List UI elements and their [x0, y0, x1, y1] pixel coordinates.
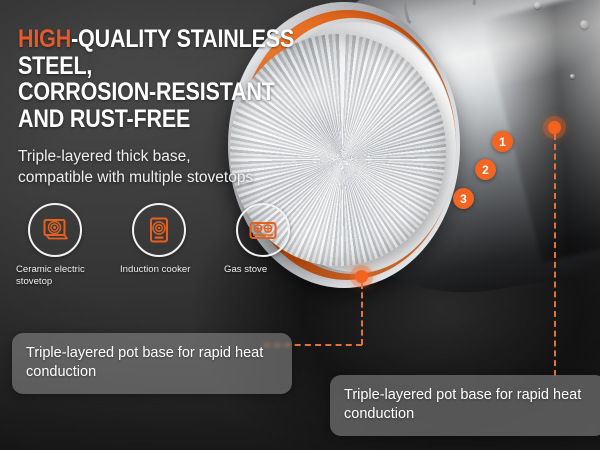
feature-caption: Gas stove: [224, 264, 302, 276]
subheading: Triple-layered thick base, compatible wi…: [18, 146, 328, 189]
feature-induction-cooker: Induction cooker: [120, 203, 198, 288]
callout-right: Triple-layered pot base for rapid heat c…: [330, 375, 600, 436]
subheading-line1: Triple-layered thick base,: [18, 148, 191, 165]
product-feature-banner: HIGH-QUALITY STAINLESS STEEL, CORROSION-…: [0, 0, 600, 450]
page-title: HIGH-QUALITY STAINLESS STEEL, CORROSION-…: [18, 26, 302, 132]
pointer-dot-base-center: [355, 270, 368, 283]
ceramic-electric-stovetop-icon: [28, 203, 82, 257]
callout-left: Triple-layered pot base for rapid heat c…: [12, 333, 292, 394]
feature-label-line2: stovetop: [16, 276, 52, 287]
layer-badge-3: 3: [453, 188, 474, 209]
feature-label-line1: Induction cooker: [120, 264, 190, 275]
headline-line2: CORROSION-RESISTANT: [18, 78, 275, 106]
subheading-line2: compatible with multiple stovetops: [18, 169, 253, 186]
feature-caption: Induction cooker: [120, 264, 198, 276]
feature-label-line1: Ceramic electric: [16, 264, 85, 275]
headline-line3: AND RUST-FREE: [18, 105, 190, 133]
induction-cooker-icon: [132, 203, 186, 257]
pointer-dot-pot-rim: [548, 121, 561, 134]
feature-caption: Ceramic electric stovetop: [16, 264, 94, 288]
layer-badge-1: 1: [492, 131, 513, 152]
feature-ceramic-electric-stovetop: Ceramic electric stovetop: [16, 203, 94, 288]
leader-line-pot-rim: [554, 134, 556, 376]
gas-stove-icon: [236, 203, 290, 257]
stovetop-compatibility-list: Ceramic electric stovetop Induction cook…: [16, 203, 302, 288]
feature-label-line1: Gas stove: [224, 264, 267, 275]
feature-gas-stove: Gas stove: [224, 203, 302, 288]
leader-line-base-center: [361, 283, 363, 345]
layer-badge-2: 2: [475, 159, 496, 180]
headline-accent-word: HIGH: [18, 25, 71, 53]
